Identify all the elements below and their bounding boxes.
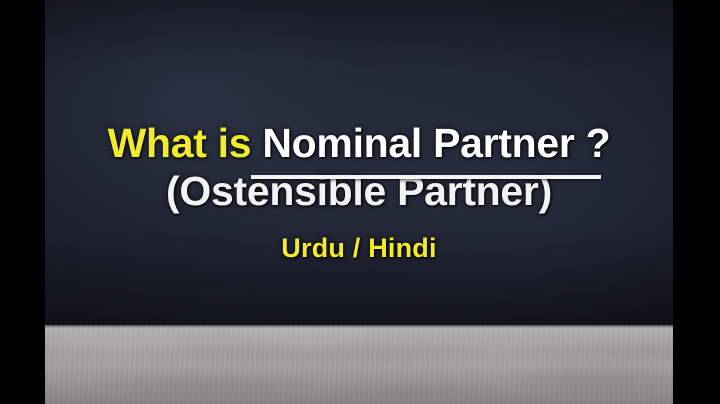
letterbox-bar-left — [0, 0, 45, 404]
title-highlight-text: What is — [108, 120, 252, 166]
concrete-floor — [45, 325, 673, 404]
title-overlay: What is Nominal Partner ? (Ostensible Pa… — [45, 118, 673, 264]
title-line-1: What is Nominal Partner ? — [45, 118, 673, 168]
letterbox-bar-right — [673, 0, 720, 404]
title-underline-rule — [251, 175, 601, 179]
title-emphasis-text: Nominal Partner ? — [262, 120, 610, 166]
floor-texture-overlay — [45, 325, 673, 404]
language-label: Urdu / Hindi — [45, 233, 673, 264]
floor-wall-junction — [45, 325, 673, 328]
title-space — [251, 120, 262, 166]
video-content-area: What is Nominal Partner ? (Ostensible Pa… — [45, 0, 673, 404]
video-frame-screenshot: What is Nominal Partner ? (Ostensible Pa… — [0, 0, 720, 404]
